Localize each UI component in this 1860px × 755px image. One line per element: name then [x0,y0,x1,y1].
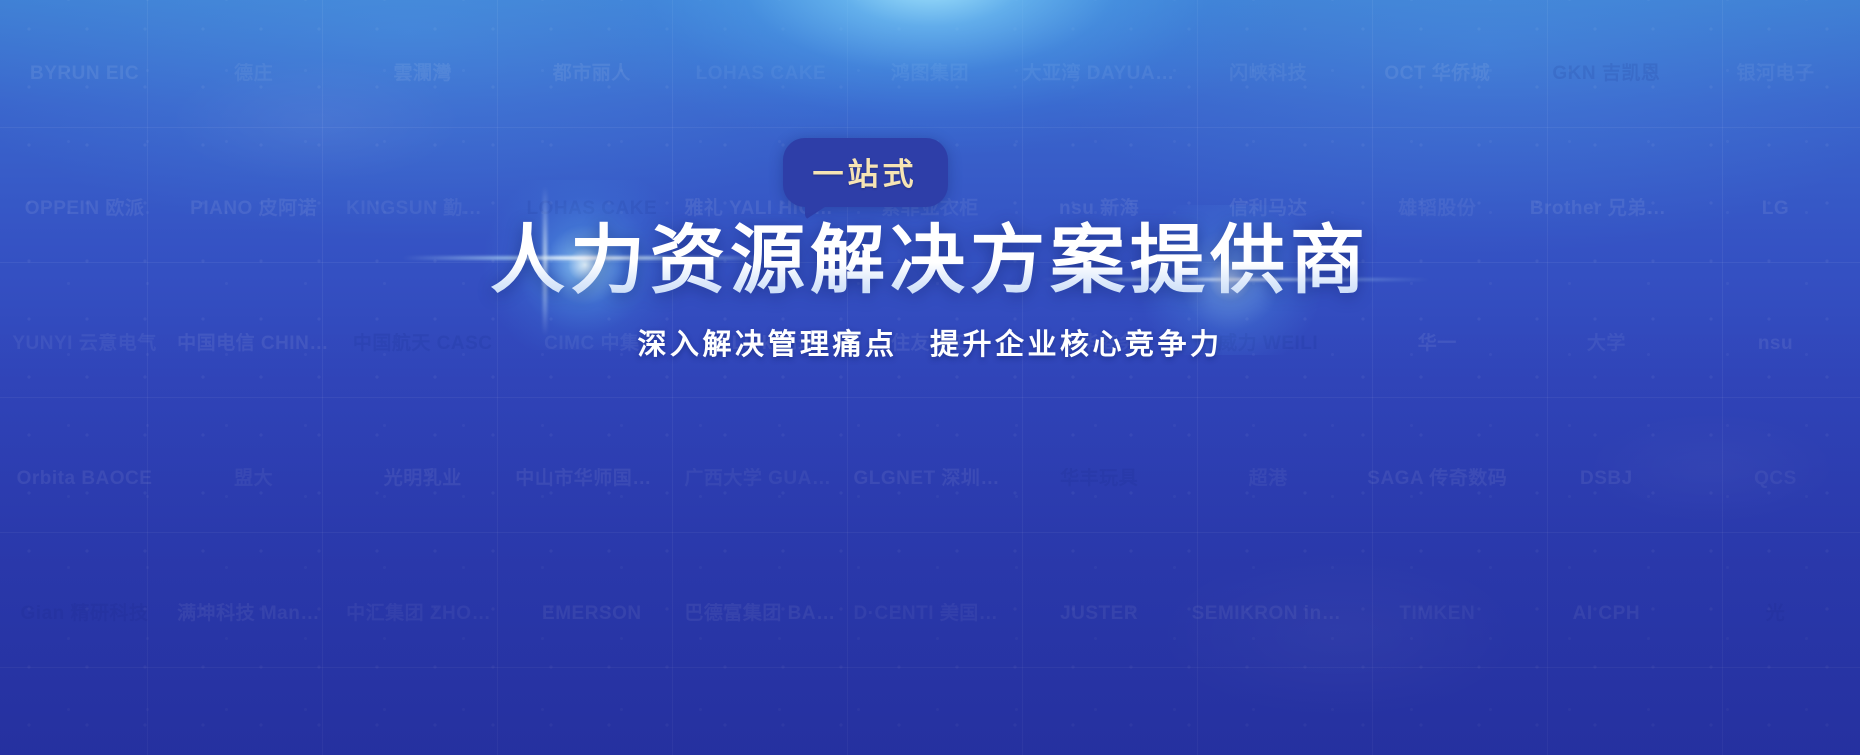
logo-label: 银河电子 [1736,63,1814,85]
logo-cell: GLGNET 深圳市方向电子有限公司 [845,411,1014,546]
logo-cell: 闪峡科技 [1184,6,1353,141]
logo-label: 盟大 [234,468,273,490]
logo-label: JUSTER [1060,603,1138,625]
hero-banner: BYRUN EIC德庄雲瀾灣都市丽人LOHAS CAKE鸿图集团大亚湾 DAYU… [0,0,1860,755]
logo-cell: Orbita BAOCE [0,411,169,546]
logo-cell: DSBJ [1522,411,1691,546]
logo-cell: 广西大学 GUANGXI UNIVERSITY [676,411,845,546]
hero-content: 一站式 人力资源解决方案提供商 深入解决管理痛点 提升企业核心竞争力 [0,138,1860,363]
logo-label: 雲瀾灣 [393,63,452,85]
hero-headline: 人力资源解决方案提供商 [490,221,1370,301]
logo-cell: 光 [1691,546,1860,681]
logo-cell: 中汇集团 ZHONGHUI [338,546,507,681]
logo-label: Orbita BAOCE [17,468,153,490]
logo-grid-lines [0,0,1860,755]
logo-label: BYRUN EIC [30,63,139,85]
logo-cell: 盟大 [169,411,338,546]
logo-cell: 华丰玩具 [1015,411,1184,546]
logo-label: LOHAS CAKE [696,63,827,85]
dot-texture [0,0,1860,755]
logo-cell: 超港 [1184,411,1353,546]
logo-cell: 银河电子 [1691,6,1860,141]
logo-label: QCS [1754,468,1797,490]
logo-label: 中汇集团 ZHONGHUI [346,603,499,625]
logo-label: 巴德富集团 BAIF Industry Co., Ltd. [684,603,837,625]
partner-logo-wall: BYRUN EIC德庄雲瀾灣都市丽人LOHAS CAKE鸿图集团大亚湾 DAYU… [0,0,1860,755]
top-center-glow [0,0,1860,755]
logo-cell: SAGA 传奇数码 [1353,411,1522,546]
logo-label: 鸿图集团 [891,63,969,85]
logo-label: 华丰玩具 [1060,468,1138,490]
logo-cell: OCT 华侨城 [1353,6,1522,141]
logo-cell: 鸿图集团 [845,6,1014,141]
logo-label: 满坤科技 Mankun Technology [177,603,330,625]
soft-cloud-blobs [0,0,1860,755]
logo-label: OCT 华侨城 [1384,63,1490,85]
logo-label: AI CPH [1573,603,1640,625]
logo-label: 光明乳业 [384,468,462,490]
logo-cell: TIMKEN [1353,546,1522,681]
logo-cell: LOHAS CAKE [676,6,845,141]
hero-subheadline: 深入解决管理痛点 提升企业核心竞争力 [637,321,1222,363]
background-glow-wash [0,0,1860,755]
logo-cell: BYRUN EIC [0,6,169,141]
logo-label: 中山市华师国际学校 CHINA SCHOOL [515,468,668,490]
logo-wall-host: BYRUN EIC德庄雲瀾灣都市丽人LOHAS CAKE鸿图集团大亚湾 DAYU… [0,0,1860,755]
logo-label: 超港 [1249,468,1288,490]
logo-label: GKN 吉凯恩 [1552,63,1660,85]
logo-cell: 中山市华师国际学校 CHINA SCHOOL [507,411,676,546]
logo-cell: AI CPH [1522,546,1691,681]
logo-label: SEMIKRON innovation [1192,603,1345,625]
one-stop-badge-label: 一站式 [813,149,918,194]
bottom-shade [0,0,1860,755]
logo-cell: 德庄 [169,6,338,141]
logo-label: SAGA 传奇数码 [1367,468,1507,490]
logo-cell: 光明乳业 [338,411,507,546]
logo-label: Gian 精研科技 [21,603,149,625]
logo-cell: D·CENTI 美国迪生力轮毂 [845,546,1014,681]
logo-label: TIMKEN [1399,603,1475,625]
logo-cell: SEMIKRON innovation [1184,546,1353,681]
one-stop-badge: 一站式 [783,138,948,207]
logo-cell: 雲瀾灣 [338,6,507,141]
logo-label: GLGNET 深圳市方向电子有限公司 [853,468,1006,490]
logo-cell: 满坤科技 Mankun Technology [169,546,338,681]
logo-cell: 巴德富集团 BAIF Industry Co., Ltd. [676,546,845,681]
logo-label: 都市丽人 [553,63,631,85]
logo-label: 广西大学 GUANGXI UNIVERSITY [684,468,837,490]
logo-cell: GKN 吉凯恩 [1522,6,1691,141]
logo-label: 光 [1766,603,1786,625]
logo-label: 德庄 [234,63,273,85]
logo-label: 闪峡科技 [1229,63,1307,85]
logo-cell: 大亚湾 DAYUANTO [1015,6,1184,141]
logo-cell: EMERSON [507,546,676,681]
logo-label: D·CENTI 美国迪生力轮毂 [853,603,1006,625]
logo-cell: JUSTER [1015,546,1184,681]
logo-cell: QCS [1691,411,1860,546]
logo-label: DSBJ [1580,468,1633,490]
logo-cell: Gian 精研科技 [0,546,169,681]
logo-label: 大亚湾 DAYUANTO [1023,63,1176,85]
logo-cell: 都市丽人 [507,6,676,141]
logo-label: EMERSON [542,603,642,625]
